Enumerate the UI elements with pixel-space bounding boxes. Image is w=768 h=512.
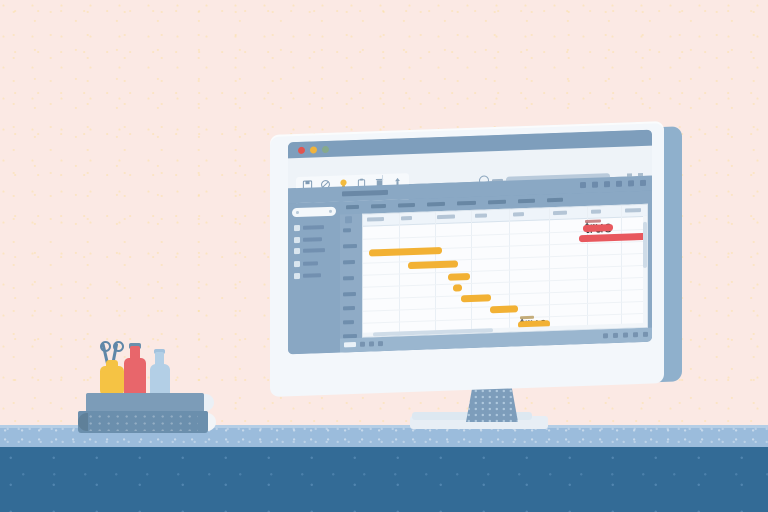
- list-view-icon[interactable]: [369, 341, 374, 346]
- grid-line-horizontal: [363, 313, 647, 324]
- row-label: [343, 228, 351, 232]
- row-label: [343, 292, 356, 296]
- zoom-icon[interactable]: [633, 332, 638, 337]
- monitor-screen: true true: [288, 130, 652, 355]
- gantt-row-label-gutter: [340, 214, 362, 339]
- sidebar-item-tasks[interactable]: [294, 247, 325, 254]
- gantt-bar-task-6[interactable]: [490, 305, 518, 313]
- gantt-bar-label: true: [585, 219, 601, 223]
- dashboard-icon: [294, 225, 300, 231]
- column-header[interactable]: [591, 209, 601, 213]
- gantt-bar-task-3[interactable]: [448, 273, 470, 281]
- team-icon: [294, 261, 300, 267]
- column-header[interactable]: [625, 208, 641, 213]
- close-dot-icon[interactable]: [298, 147, 305, 154]
- column-header[interactable]: [401, 216, 412, 220]
- projects-icon: [294, 237, 300, 243]
- sidebar-item-dashboard[interactable]: [294, 224, 324, 231]
- sidebar-item-projects[interactable]: [294, 236, 322, 243]
- gantt-chart-grid[interactable]: true true: [362, 204, 648, 338]
- menu-item-view[interactable]: [398, 203, 415, 208]
- row-label: [343, 306, 355, 310]
- layout-icon[interactable]: [613, 333, 618, 338]
- reports-icon: [294, 273, 300, 279]
- row-label: [343, 320, 354, 324]
- doc-tool-2-icon[interactable]: [592, 182, 598, 188]
- chart-view-icon[interactable]: [378, 341, 383, 346]
- column-header[interactable]: [367, 217, 384, 222]
- gantt-bar-task-1[interactable]: [369, 247, 442, 257]
- sidebar-item-label: [303, 237, 322, 242]
- row-label: [343, 276, 354, 280]
- gantt-bar-label: true: [520, 316, 534, 319]
- menu-item-project[interactable]: [518, 199, 535, 204]
- book-stack: [78, 393, 213, 433]
- status-bar-right-tools: [603, 332, 648, 339]
- collapse-panel-button[interactable]: [345, 216, 352, 223]
- sidebar-item-label: [303, 248, 325, 253]
- grid-line-horizontal: [363, 289, 647, 300]
- menu-item-file[interactable]: [346, 205, 359, 209]
- sidebar-item-label: [303, 261, 318, 266]
- minimize-dot-icon[interactable]: [310, 146, 317, 153]
- gantt-bar-task-4[interactable]: [453, 284, 462, 291]
- menu-item-tools[interactable]: [488, 200, 506, 205]
- doc-tool-4-icon[interactable]: [616, 181, 622, 187]
- column-header[interactable]: [437, 215, 455, 220]
- status-bar-left-tools: [344, 341, 383, 347]
- doc-tool-3-icon[interactable]: [604, 181, 610, 187]
- gantt-bar-task-5[interactable]: [461, 294, 491, 302]
- scrollbar-vertical-thumb[interactable]: [643, 222, 647, 268]
- book-texture: [88, 413, 198, 431]
- gantt-bar-task-2[interactable]: [408, 260, 458, 269]
- red-bottle: [124, 358, 146, 397]
- desk-front-panel: [0, 447, 768, 512]
- zoom-out-icon[interactable]: [344, 342, 356, 347]
- doc-tool-5-icon[interactable]: [628, 180, 634, 186]
- fit-icon[interactable]: [623, 332, 628, 337]
- settings-icon[interactable]: [643, 332, 648, 337]
- sidebar-item-reports[interactable]: [294, 272, 321, 279]
- tasks-icon: [294, 248, 300, 254]
- doc-tool-1-icon[interactable]: [580, 182, 586, 188]
- column-header[interactable]: [553, 211, 567, 215]
- page-icon[interactable]: [603, 333, 608, 338]
- grid-view-icon[interactable]: [360, 342, 365, 347]
- menu-item-format[interactable]: [457, 201, 476, 206]
- gantt-panel: true true: [340, 191, 652, 353]
- app-sidebar: [288, 202, 340, 355]
- gantt-bar-milestone-a[interactable]: [583, 224, 613, 232]
- row-label: [343, 244, 357, 248]
- grid-line-horizontal: [363, 277, 647, 288]
- row-label: [343, 260, 355, 264]
- maximize-dot-icon[interactable]: [322, 146, 329, 153]
- sidebar-item-label: [303, 273, 321, 278]
- menu-item-insert[interactable]: [427, 202, 445, 207]
- column-header[interactable]: [513, 212, 524, 216]
- sidebar-item-team[interactable]: [294, 260, 318, 267]
- book-top: [86, 393, 204, 413]
- sidebar-item-label: [303, 225, 324, 230]
- scrollbar-vertical[interactable]: [643, 216, 647, 327]
- illustration-scene: true true: [0, 0, 768, 512]
- menu-item-help[interactable]: [547, 198, 563, 203]
- menu-item-edit[interactable]: [371, 204, 386, 209]
- column-header[interactable]: [475, 213, 487, 217]
- doc-tool-6-icon[interactable]: [640, 180, 646, 186]
- grid-line-horizontal: [363, 265, 647, 276]
